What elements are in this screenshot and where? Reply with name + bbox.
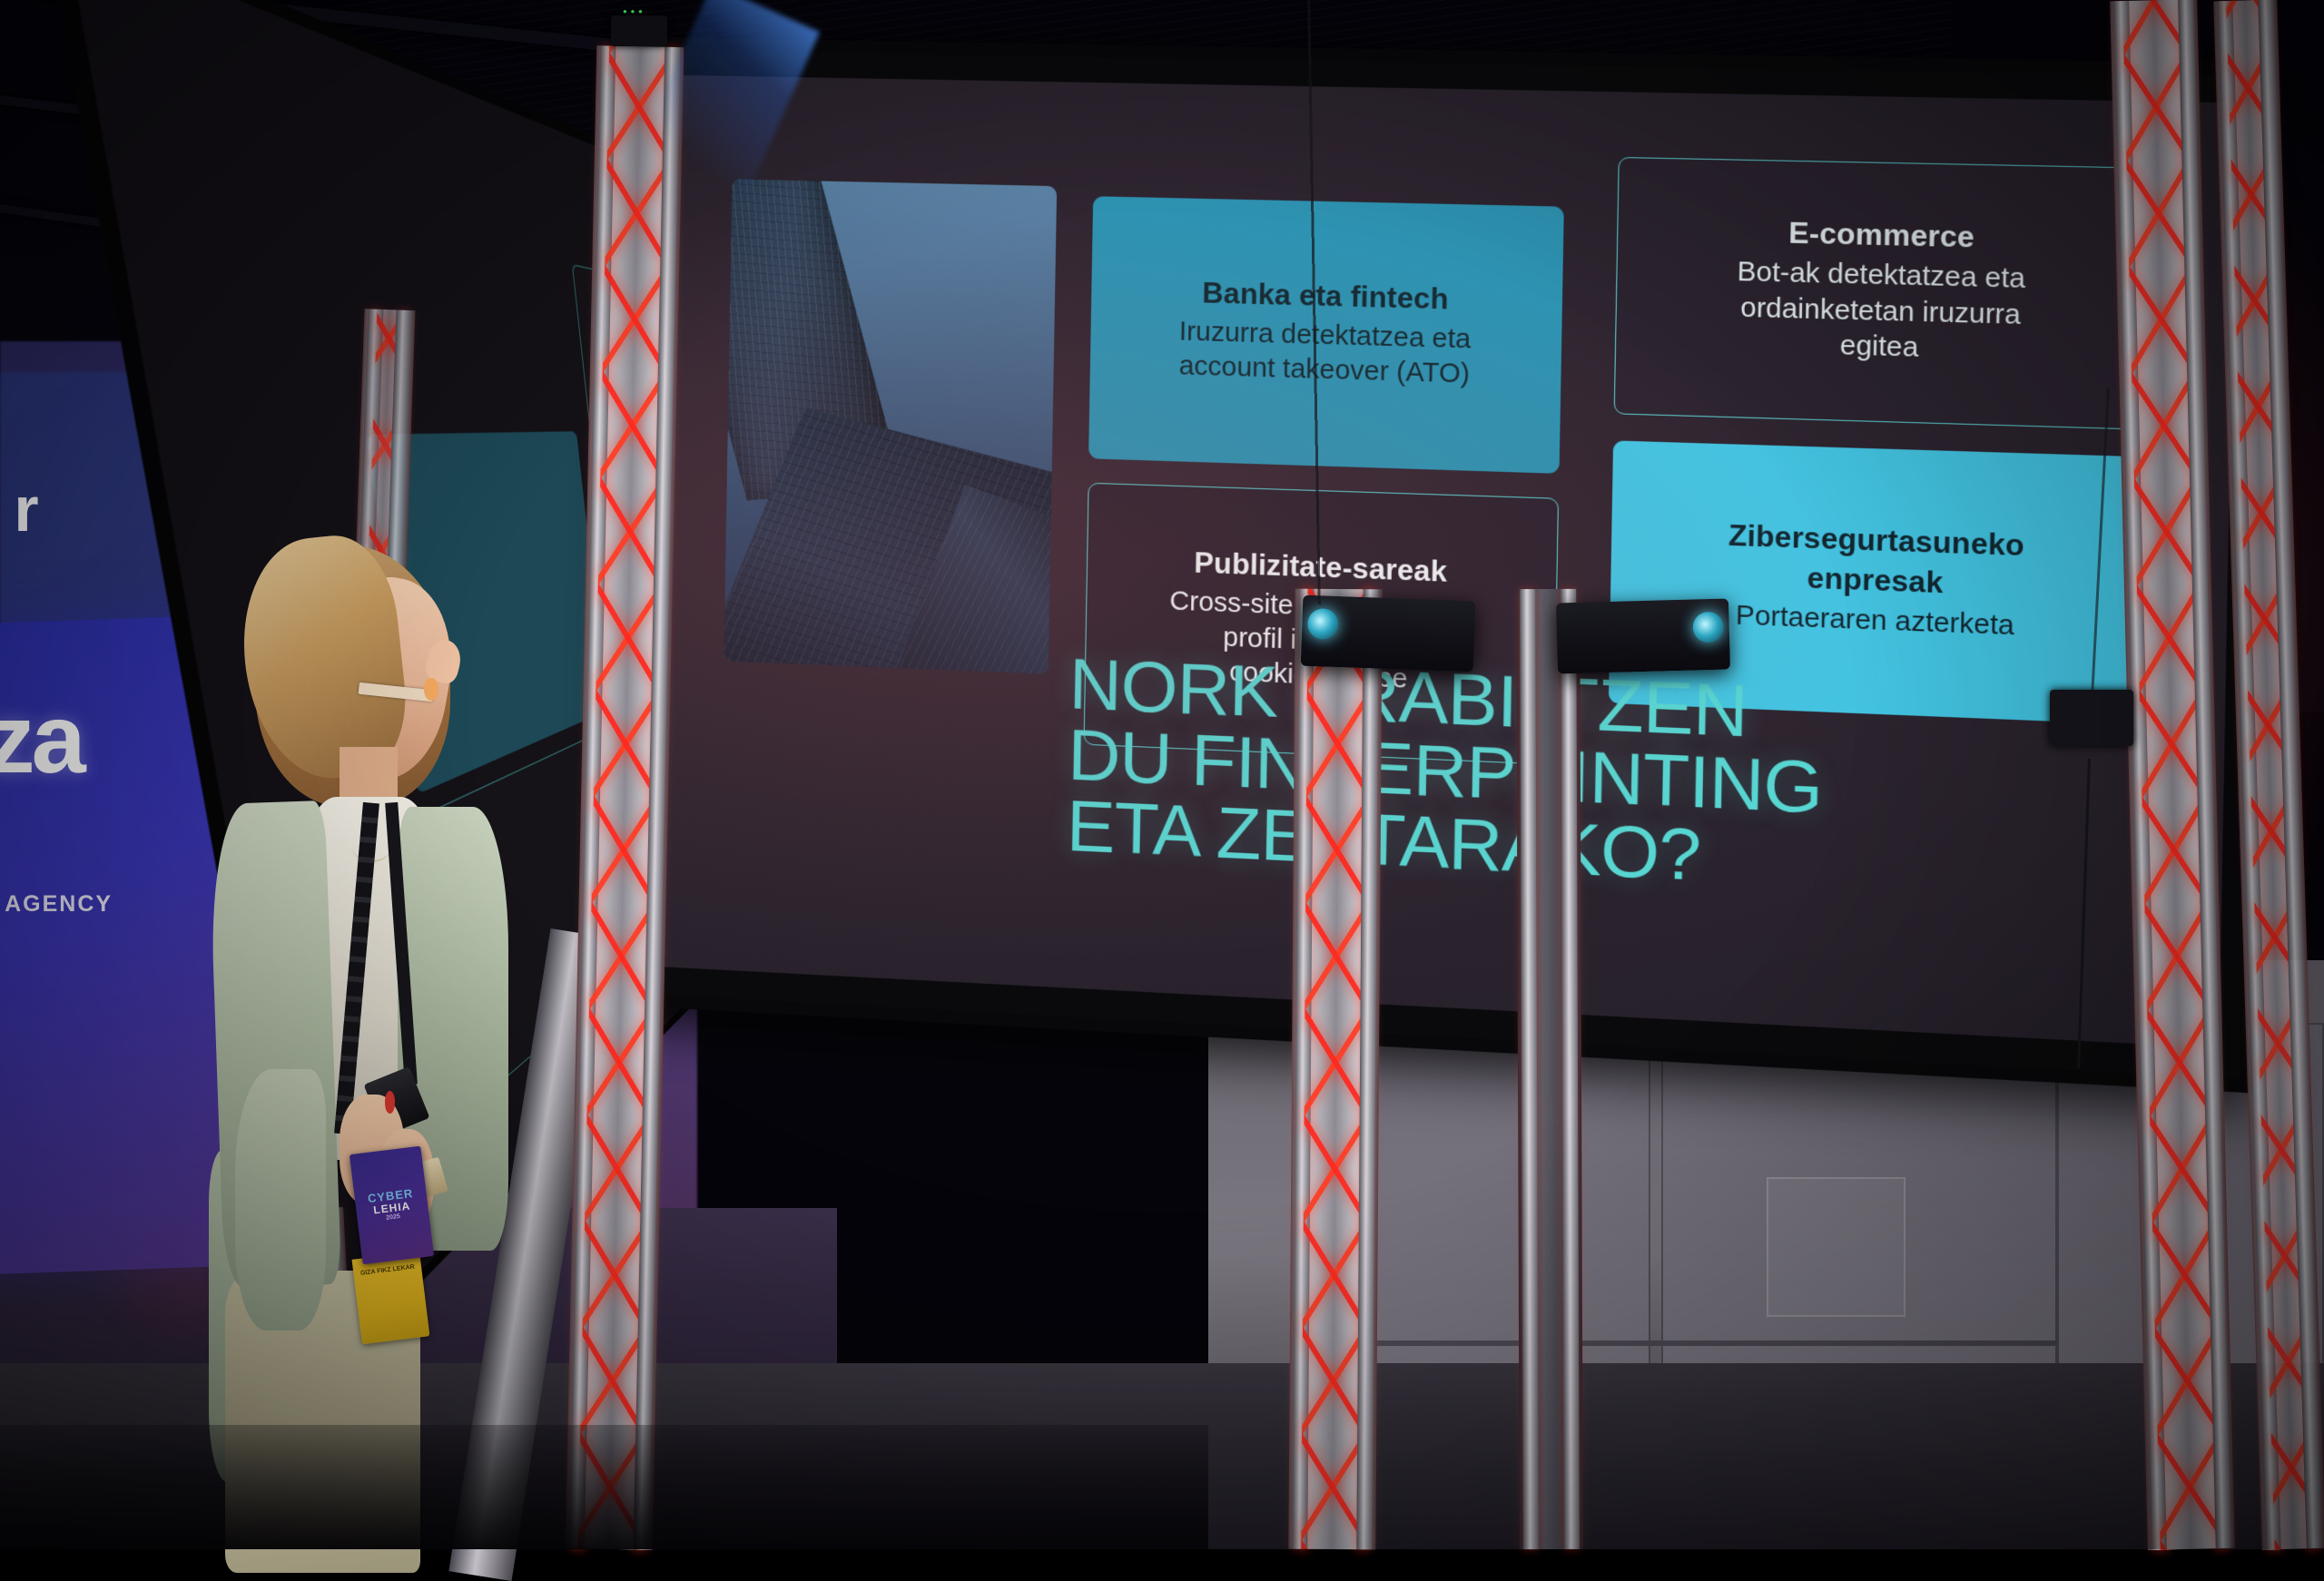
conference-badge: CYBER LEHIA 2025 xyxy=(350,1145,434,1264)
card-body-line: account takeover (ATO) xyxy=(1179,349,1471,392)
card-title: E-commerce xyxy=(1788,217,1974,255)
badge-name-text: GIZA FIKZ LEKARIKETA xyxy=(360,1264,416,1277)
cable-junction-box xyxy=(2050,690,2133,746)
card-body-line: Portaeraren azterketa xyxy=(1736,598,2014,643)
sponsor-banner-subtitle: AGENCY xyxy=(5,891,113,918)
photo-overlay xyxy=(724,179,1057,674)
projector-lens-icon xyxy=(1693,612,1725,643)
stage-foreground-shadow xyxy=(0,1425,1208,1549)
sponsor-banner-tick: r xyxy=(14,473,38,545)
card-e-commerce: E-commerce Bot-ak detektatzea eta ordain… xyxy=(1613,156,2152,429)
speaker-arm-left xyxy=(235,1069,326,1331)
microphone-windscreen-icon xyxy=(424,678,438,700)
card-title: enpresak xyxy=(1807,561,1943,600)
fixture-status-leds: ••• xyxy=(623,5,646,18)
wall-rail xyxy=(1324,1340,2056,1346)
card-banka-eta-fintech: Banka eta fintech Iruzurra detektatzea e… xyxy=(1088,196,1564,474)
projector-right xyxy=(1556,599,1730,674)
card-title: Banka eta fintech xyxy=(1202,276,1449,316)
truss-bracing xyxy=(1302,588,1370,1549)
wall-panel-inset xyxy=(1767,1177,1906,1317)
card-body-line: egitea xyxy=(1840,329,1919,366)
sponsor-banner-wordmark: za xyxy=(0,682,83,795)
slide-surface: Banka eta fintech Iruzurra detektatzea e… xyxy=(651,74,2237,1047)
card-body-line: ordainketetan iruzurra xyxy=(1740,290,2021,333)
truss-tower-center-rear xyxy=(1516,589,1583,1550)
fingernail xyxy=(385,1091,395,1113)
slide-photo-skyscraper xyxy=(724,179,1057,674)
badge-year: 2025 xyxy=(386,1213,400,1221)
projector-left xyxy=(1300,595,1475,673)
card-title: Zibersegurtasuneko xyxy=(1728,519,2025,564)
card-title: Publizitate-sareak xyxy=(1194,546,1447,589)
projector-lens-icon xyxy=(1306,608,1338,640)
slide-headline: NORK ERABILTZEN DU FINGERPRINTING ETA ZE… xyxy=(1066,648,2184,915)
main-projection-screen: Banka eta fintech Iruzurra detektatzea e… xyxy=(619,37,2272,1093)
moving-head-fixture xyxy=(611,15,667,46)
screen-frame: Banka eta fintech Iruzurra detektatzea e… xyxy=(619,37,2272,1093)
speaker-presenter: GIZA FIKZ LEKARIKETA CYBER LEHIA 2025 xyxy=(209,545,534,1553)
truss-tower-center xyxy=(1289,588,1383,1549)
conference-badge-name-strip: GIZA FIKZ LEKARIKETA xyxy=(352,1252,430,1345)
